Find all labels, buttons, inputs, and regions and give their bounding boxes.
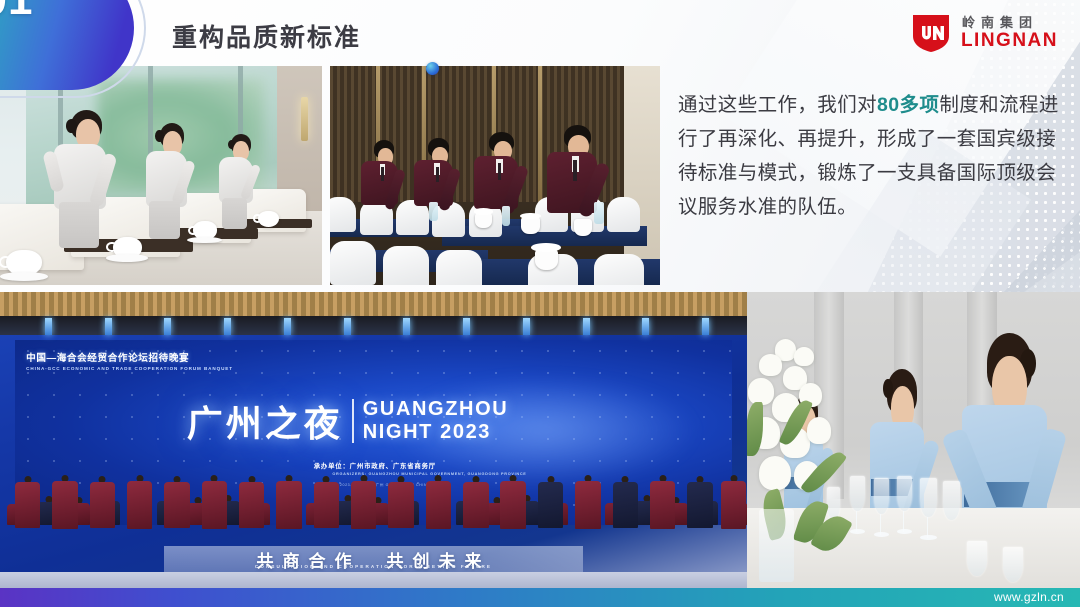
footer-website-url: www.gzln.cn (994, 588, 1064, 607)
body-paragraph: 通过这些工作，我们对80多项制度和流程进行了再深化、再提升，形成了一套国宾级接待… (678, 88, 1070, 224)
section-number: 01 (0, 0, 52, 28)
photo-guangzhou-night-stage: 中国—海合会经贸合作论坛招待晚宴 CHINA-GCC ECONOMIC AND … (0, 292, 747, 588)
stage-headline-cn: 中国—海合会经贸合作论坛招待晚宴 (26, 350, 189, 364)
dot-accent-icon (426, 62, 439, 75)
photo-hostesses-lounge (0, 66, 322, 285)
page-title: 重构品质新标准 (172, 18, 361, 54)
stage-title-en-line2: NIGHT 2023 (363, 421, 509, 443)
stage-headline-en: CHINA-GCC ECONOMIC AND TRADE COOPERATION… (26, 366, 233, 371)
stage-title-cn: 广州之夜 (187, 395, 343, 447)
title-divider (352, 399, 354, 443)
stage-title-en-line1: GUANGZHOU (363, 398, 509, 420)
group-photo-crowd (0, 460, 747, 542)
stage-front-banner: 共商合作 共创未来 CONSULTATION AND COOPERATION F… (164, 546, 582, 573)
slide-header: 01 重构品质新标准 (0, 0, 1080, 66)
body-highlight-number: 80多项 (877, 94, 939, 116)
slide-canvas: 中国—海合会经贸合作论坛招待晚宴 CHINA-GCC ECONOMIC AND … (0, 0, 1080, 607)
flower-arrangement (747, 339, 874, 582)
photo-staff-conference-hall (330, 66, 660, 285)
slide-footer: www.gzln.cn (0, 588, 1080, 607)
photo-banquet-table-setup (747, 292, 1080, 588)
body-lead-text: 通过这些工作，我们对 (678, 94, 877, 116)
banner-text-en: CONSULTATION AND COOPERATION FOR A BETTE… (164, 564, 582, 569)
stage-main-title: 广州之夜 GUANGZHOU NIGHT 2023 (187, 395, 509, 447)
